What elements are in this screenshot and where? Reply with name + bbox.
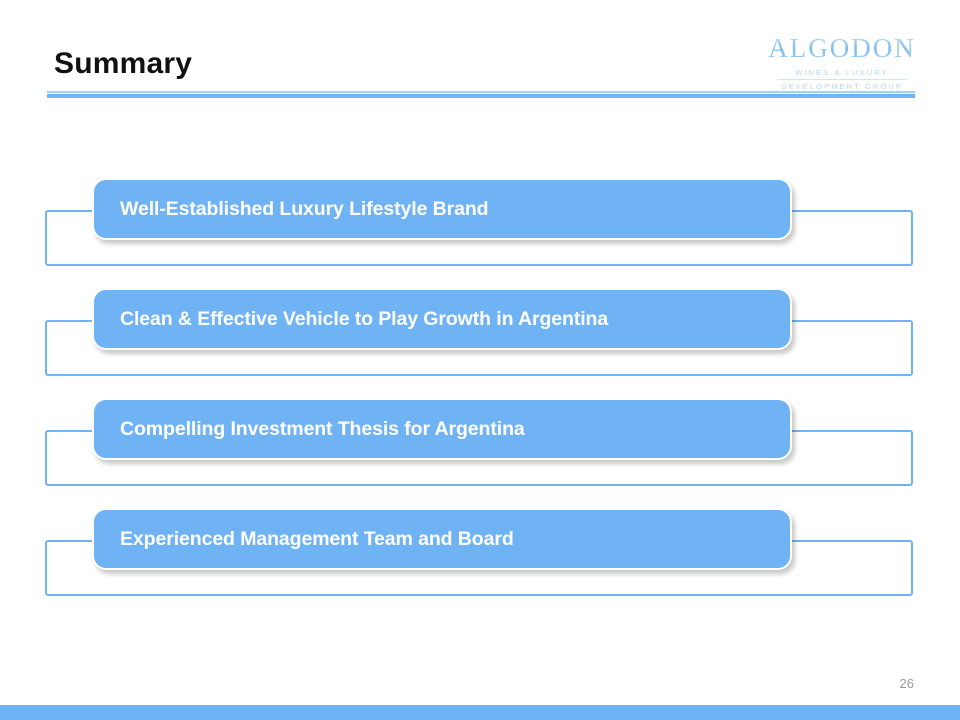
slide-canvas: Summary ALGODON WINES & LUXURY DEVELOPME…: [0, 0, 960, 720]
summary-chip[interactable]: Well-Established Luxury Lifestyle Brand: [92, 178, 792, 240]
summary-chip-label: Clean & Effective Vehicle to Play Growth…: [94, 308, 608, 331]
summary-chip-label: Experienced Management Team and Board: [94, 528, 514, 551]
summary-chip[interactable]: Clean & Effective Vehicle to Play Growth…: [92, 288, 792, 350]
summary-chip[interactable]: Experienced Management Team and Board: [92, 508, 792, 570]
logo-tagline-line2: DEVELOPMENT GROUP: [756, 82, 928, 91]
logo-wordmark: ALGODON: [756, 34, 928, 62]
summary-chip-label: Compelling Investment Thesis for Argenti…: [94, 418, 525, 441]
page-number: 26: [900, 676, 914, 691]
summary-chip-label: Well-Established Luxury Lifestyle Brand: [94, 198, 489, 221]
footer-accent-bar: [0, 705, 960, 720]
page-title: Summary: [54, 47, 192, 81]
title-rule-thick: [47, 94, 915, 98]
summary-chip[interactable]: Compelling Investment Thesis for Argenti…: [92, 398, 792, 460]
logo-tagline-line1: WINES & LUXURY: [777, 68, 906, 80]
algodon-logo: ALGODON WINES & LUXURY DEVELOPMENT GROUP: [756, 34, 928, 91]
title-rule-thin: [47, 91, 915, 93]
